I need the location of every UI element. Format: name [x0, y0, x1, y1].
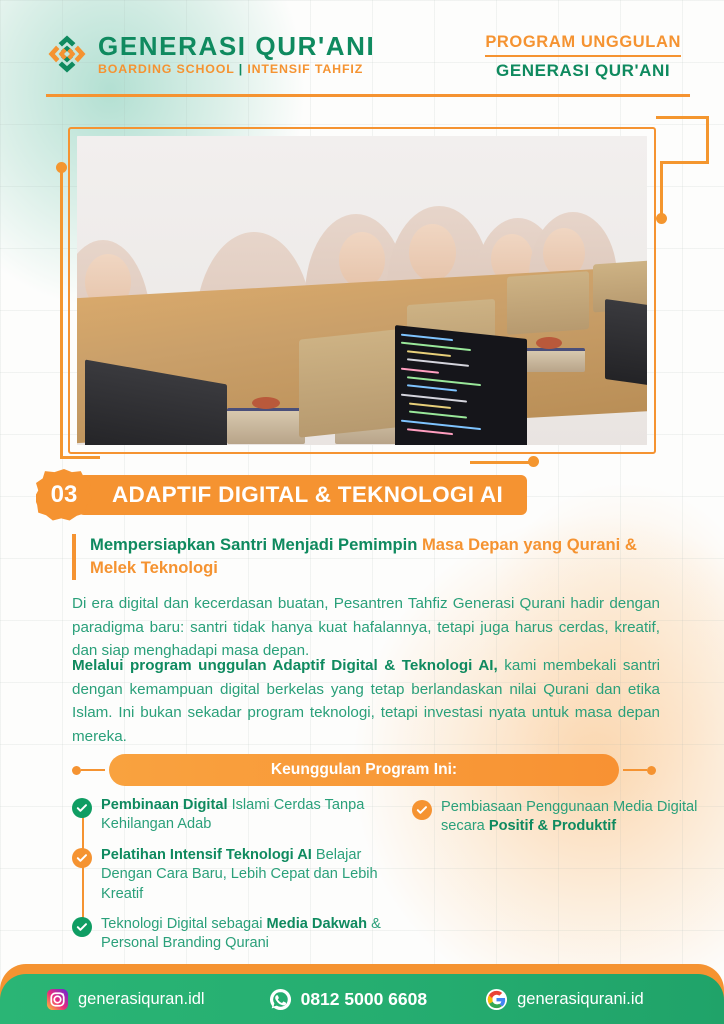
instagram-icon [46, 988, 69, 1011]
list-item-text: Pembiasaan Penggunaan Media Digital seca… [441, 798, 712, 837]
header-divider [46, 94, 690, 97]
section-title-text: ADAPTIF DIGITAL & TEKNOLOGI AI [78, 475, 527, 515]
banner-label: Keunggulan Program Ini: [109, 754, 619, 786]
list-item-bold: Media Dakwah [267, 916, 368, 932]
list-item: Teknologi Digital sebagai Media Dakwah &… [72, 915, 392, 954]
lede-green: Mempersiapkan Santri Menjadi Pemimpin [90, 535, 422, 554]
lede-heading: Mempersiapkan Santri Menjadi Pemimpin Ma… [72, 534, 660, 580]
list-item: Pembinaan Digital Islami Cerdas Tanpa Ke… [72, 796, 392, 835]
logo-subtitle: BOARDING SCHOOL | INTENSIF TAHFIZ [98, 63, 375, 75]
list-item-bold: Pembinaan Digital [101, 797, 228, 813]
list-item-text: Teknologi Digital sebagai Media Dakwah &… [101, 915, 392, 954]
list-item: Pembiasaan Penggunaan Media Digital seca… [412, 798, 712, 837]
list-item-text: Pembinaan Digital Islami Cerdas Tanpa Ke… [101, 796, 392, 835]
logo-subtitle-a: BOARDING SCHOOL [98, 62, 234, 76]
program-badge: PROGRAM UNGGULAN GENERASI QUR'ANI [485, 33, 681, 81]
check-circle-icon [72, 798, 92, 818]
poster-page: GENERASI QUR'ANI BOARDING SCHOOL | INTEN… [0, 0, 724, 1024]
google-icon [485, 988, 508, 1011]
feature-column-left: Pembinaan Digital Islami Cerdas Tanpa Ke… [72, 796, 392, 965]
list-item: Pelatihan Intensif Teknologi AI Belajar … [72, 846, 392, 904]
footer-whatsapp-label: 0812 5000 6608 [301, 989, 428, 1010]
hero-photo [77, 136, 647, 445]
list-item-bold: Positif & Produktif [489, 818, 616, 834]
check-circle-icon [72, 917, 92, 937]
banner-dot-right [647, 766, 656, 775]
check-circle-icon [412, 800, 432, 820]
banner-dot-left [72, 766, 81, 775]
footer-instagram[interactable]: generasiquran.idl [46, 988, 205, 1011]
program-badge-line2: GENERASI QUR'ANI [485, 57, 681, 81]
paragraph-2: Melalui program unggulan Adaptif Digital… [72, 654, 660, 748]
paragraph-1: Di era digital dan kecerdasan buatan, Pe… [72, 592, 660, 663]
banner-line-left [81, 769, 105, 771]
list-item-bold: Pelatihan Intensif Teknologi AI [101, 847, 312, 863]
logo-subtitle-b: INTENSIF TAHFIZ [247, 62, 363, 76]
hero-photo-frame [68, 127, 656, 454]
paragraph-2-bold: Melalui program unggulan Adaptif Digital… [72, 657, 498, 674]
logo-title: GENERASI QUR'ANI [98, 33, 375, 59]
section-title: 03 ADAPTIF DIGITAL & TEKNOLOGI AI [36, 475, 527, 515]
feature-column-right: Pembiasaan Penggunaan Media Digital seca… [412, 798, 712, 848]
brand-logo[interactable]: GENERASI QUR'ANI BOARDING SCHOOL | INTEN… [46, 33, 375, 75]
footer-google-label: generasiqurani.id [517, 990, 644, 1009]
whatsapp-icon [269, 988, 292, 1011]
footer-whatsapp[interactable]: 0812 5000 6608 [269, 988, 428, 1011]
generasi-qurani-logo-mark-icon [46, 33, 88, 75]
footer-google[interactable]: generasiqurani.id [485, 988, 644, 1011]
logo-subtitle-separator: | [234, 62, 247, 76]
header: GENERASI QUR'ANI BOARDING SCHOOL | INTEN… [0, 0, 724, 100]
footer-contact-bar: generasiquran.idl 0812 5000 6608 generas… [0, 974, 724, 1024]
keunggulan-banner: Keunggulan Program Ini: [72, 754, 656, 786]
check-circle-icon [72, 848, 92, 868]
section-number-badge: 03 [36, 469, 92, 521]
list-item-pre: Teknologi Digital sebagai [101, 916, 267, 932]
footer-instagram-label: generasiquran.idl [78, 990, 205, 1009]
banner-line-right [623, 769, 647, 771]
program-badge-line1: PROGRAM UNGGULAN [485, 33, 681, 57]
list-item-text: Pelatihan Intensif Teknologi AI Belajar … [101, 846, 392, 904]
